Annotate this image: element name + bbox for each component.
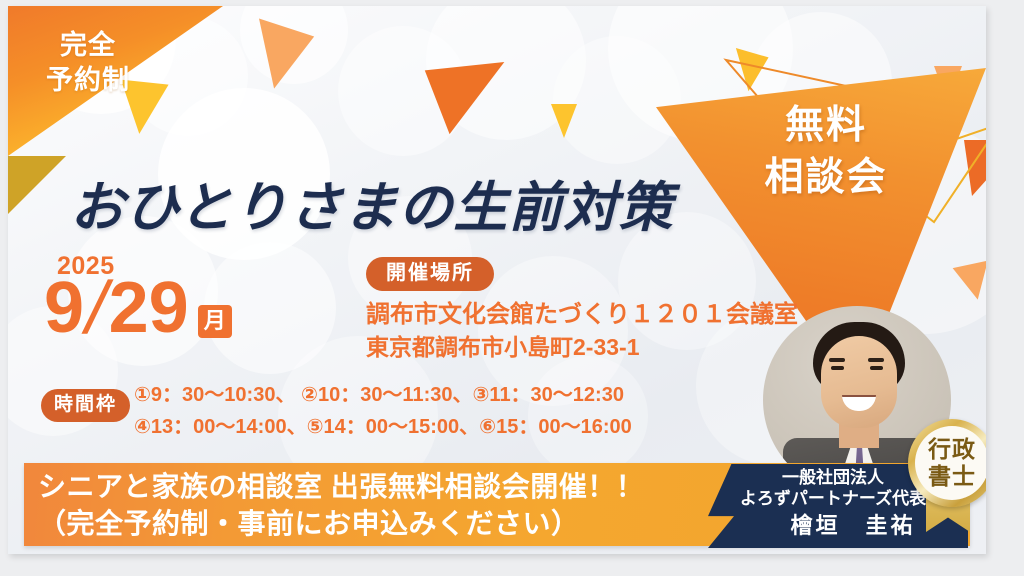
photo-eye-right (870, 366, 883, 370)
page-title: おひとりさまの生前対策 (70, 163, 673, 242)
triangle-decor-3 (551, 104, 577, 138)
event-day-of-week: 月 (198, 305, 232, 338)
photo-face (821, 336, 897, 428)
venue-address: 調布市文化会館たづくり１２０１会議室 東京都調布市小島町2-33-1 (366, 299, 798, 363)
triangle-decor-2 (425, 62, 511, 136)
venue-name: 調布市文化会館たづくり１２０１会議室 (366, 299, 798, 332)
bokeh-circle (426, 6, 586, 140)
photo-eyebrow-right (868, 358, 884, 362)
bokeh-circle (240, 6, 348, 84)
triangle-decor-1 (240, 19, 314, 96)
venue-street-address: 東京都調布市小島町2-33-1 (366, 332, 798, 363)
free-badge-line2: 相談会 (726, 152, 926, 204)
bokeh-circle (338, 26, 468, 156)
triangle-decor-6 (964, 140, 986, 196)
ribbon-fold-shadow (8, 156, 66, 214)
medal-label-line2: 書士 (928, 463, 976, 490)
photo-eyebrow-left (829, 358, 845, 362)
corner-ribbon-line2: 予約制 (24, 63, 152, 98)
banner-line2: （完全予約制・事前にお申込みください） (38, 506, 688, 543)
event-day: 29 (109, 274, 189, 343)
event-month: 9 (44, 274, 84, 343)
corner-ribbon-line1: 完全 (24, 28, 152, 63)
banner-line1: シニアと家族の相談室 出張無料相談会開催！！ (38, 469, 688, 506)
event-date: 9 / 29 月 (44, 272, 232, 343)
time-slot-badge: 時間枠 (41, 389, 130, 422)
bottom-banner-text: シニアと家族の相談室 出張無料相談会開催！！ （完全予約制・事前にお申込みくださ… (38, 469, 688, 543)
triangle-decor-8 (953, 261, 986, 304)
flyer-card: 無料 相談会 完全 予約制 おひとりさまの生前対策 2025 9 / 29 月 … (8, 6, 986, 554)
venue-badge: 開催場所 (366, 257, 494, 291)
time-slot-list: ①9：30〜10:30、 ②10：30〜11:30、③11：30〜12:30 ④… (134, 380, 632, 443)
time-slot-line2: ④13：00〜14:00、⑤14：00〜15:00、⑥15：00〜16:00 (134, 412, 632, 444)
bokeh-circle (553, 36, 681, 164)
medal-inner-circle: 行政 書士 (915, 426, 986, 500)
free-consultation-badge: 無料 相談会 (726, 100, 926, 204)
free-badge-line1: 無料 (726, 100, 926, 152)
medal-label-line1: 行政 (928, 436, 976, 463)
time-slot-line1: ①9：30〜10:30、 ②10：30〜11:30、③11：30〜12:30 (134, 380, 632, 412)
presenter-name: 檜垣 圭祐 (708, 513, 958, 540)
flyer-canvas: 無料 相談会 完全 予約制 おひとりさまの生前対策 2025 9 / 29 月 … (0, 0, 1024, 576)
reservation-required-label: 完全 予約制 (24, 28, 152, 97)
photo-eye-left (831, 366, 844, 370)
qualification-medal: 行政 書士 (908, 419, 986, 507)
triangle-decor-4 (725, 48, 768, 94)
medal-label: 行政 書士 (928, 436, 976, 490)
